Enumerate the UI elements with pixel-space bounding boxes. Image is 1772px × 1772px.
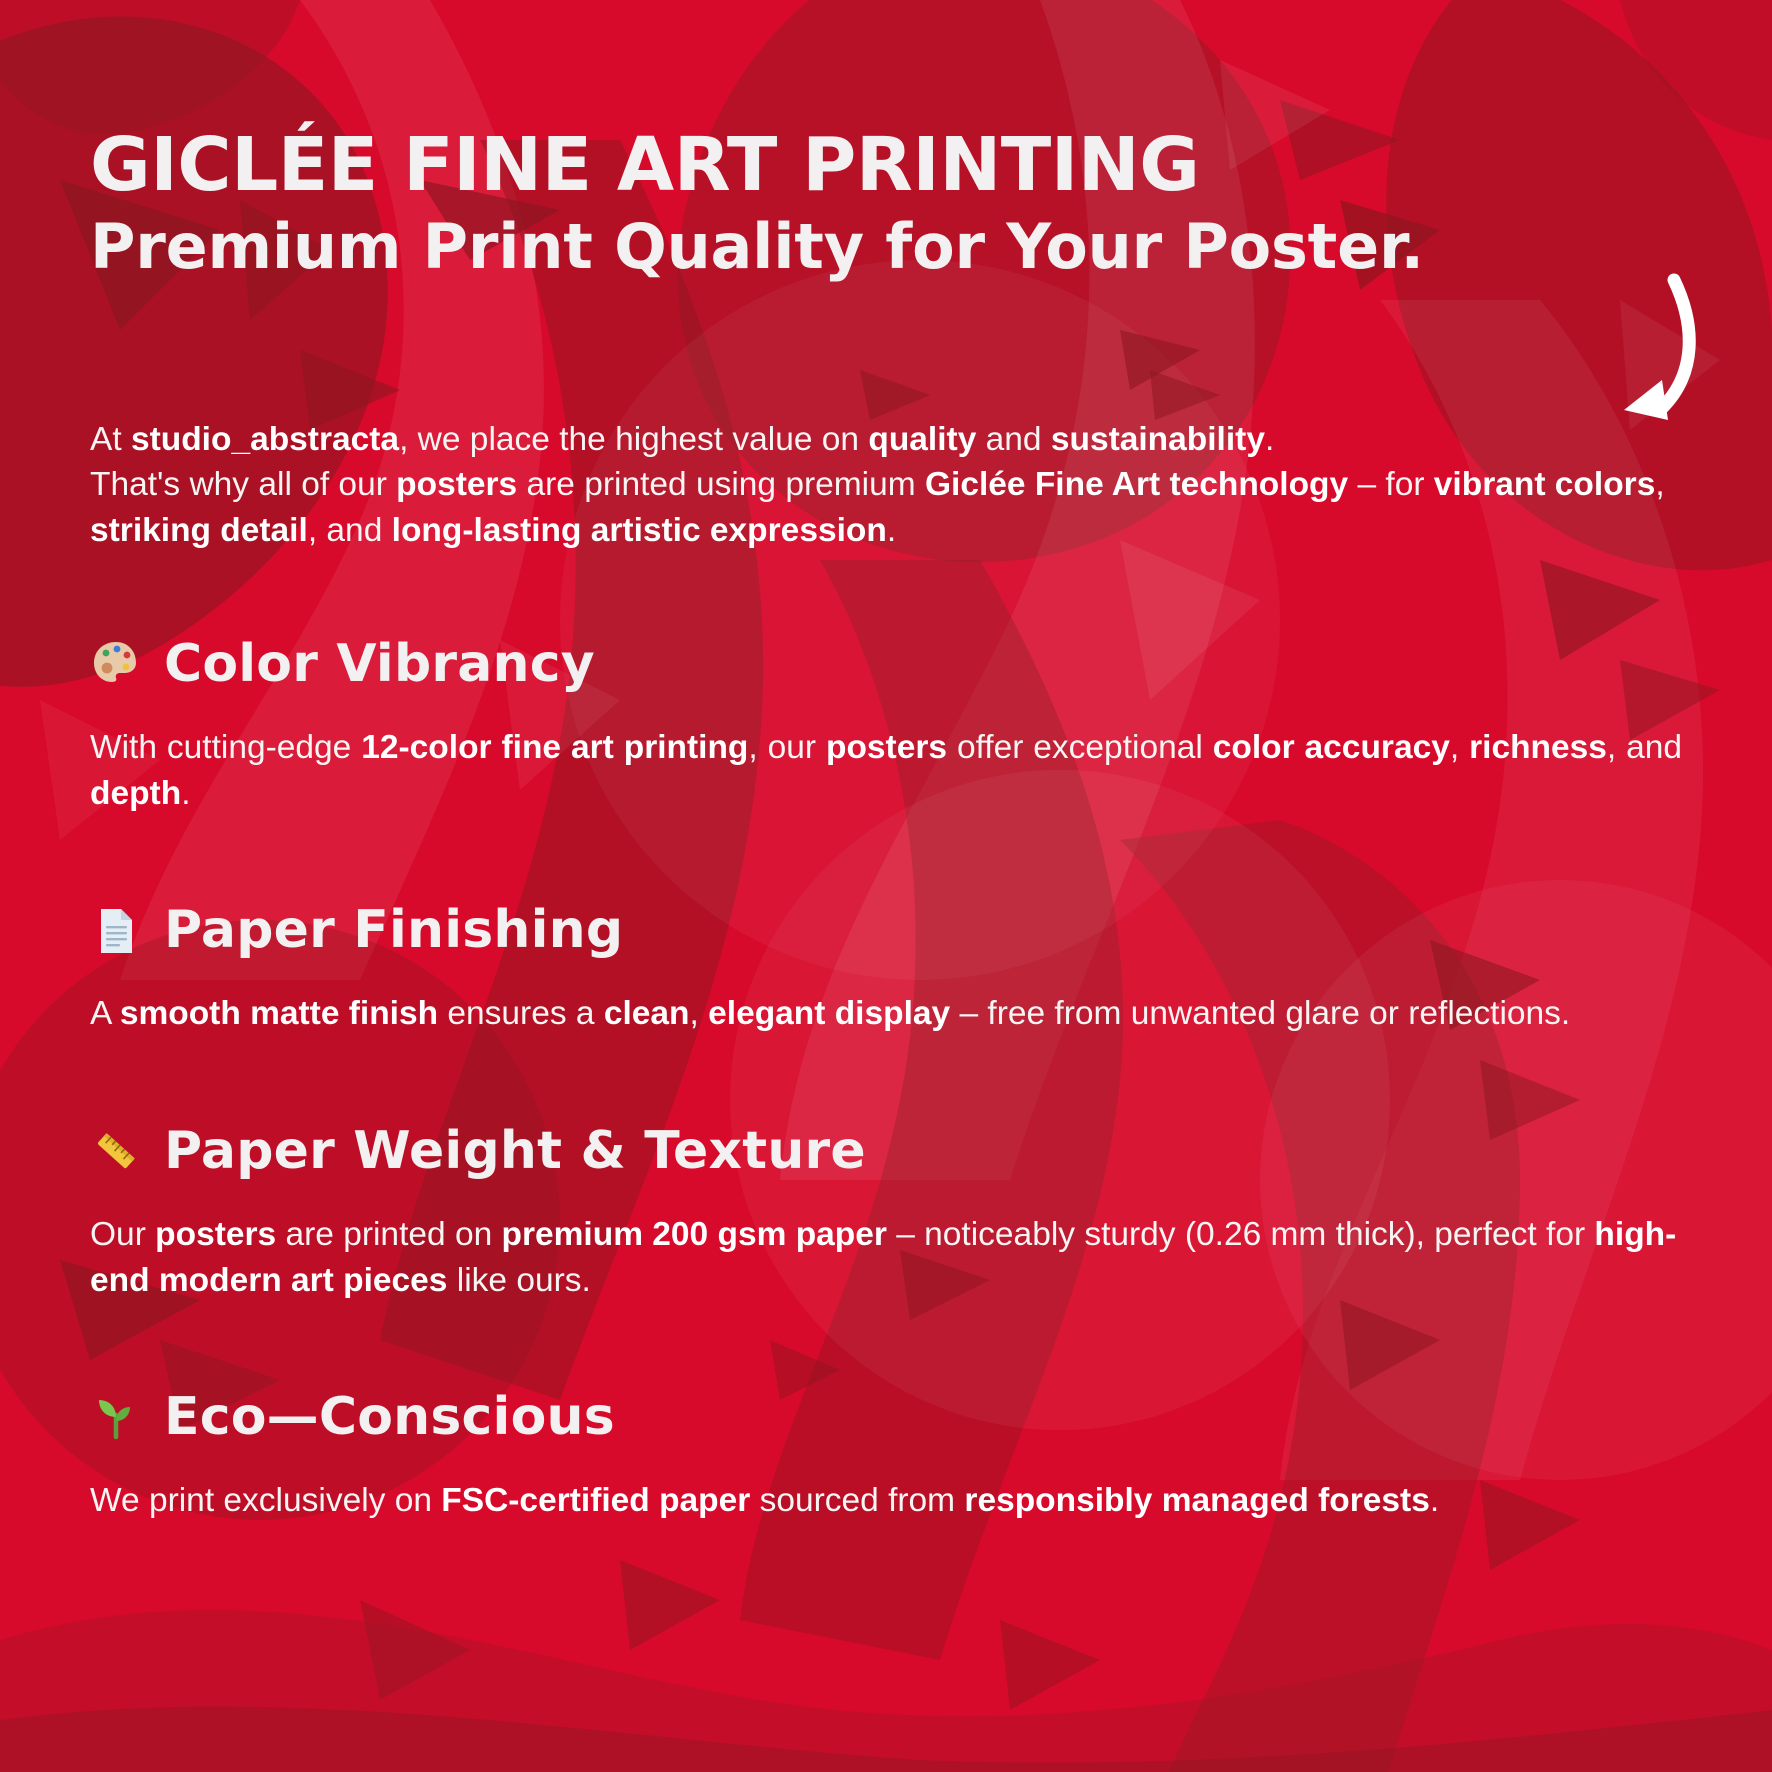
- keyword-sustainability: sustainability: [1051, 421, 1265, 458]
- keyword-vibrant-colors: vibrant colors: [1434, 466, 1656, 503]
- keyword-posters: posters: [396, 466, 517, 503]
- text-fragment-0: A: [90, 995, 120, 1032]
- text-fragment-8: , and: [1607, 729, 1682, 766]
- giclee-printing-poster: GICLÉE FINE ART PRINTING Premium Print Q…: [0, 0, 1772, 1772]
- feature-section-eco-conscious: Eco—ConsciousWe print exclusively on FSC…: [90, 1390, 1682, 1524]
- text-fragment-4: .: [1430, 1482, 1439, 1519]
- text-fragment-1: 12-color fine art printing: [361, 729, 748, 766]
- text-fragment-0: With cutting-edge: [90, 729, 361, 766]
- text-fragment-4: offer exceptional: [947, 729, 1213, 766]
- page-title: GICLÉE FINE ART PRINTING: [90, 128, 1682, 202]
- poster-content: GICLÉE FINE ART PRINTING Premium Print Q…: [0, 0, 1772, 1524]
- text-fragment-1: FSC-certified paper: [441, 1482, 750, 1519]
- text-fragment-6: ,: [1450, 729, 1469, 766]
- text-fragment-2: ensures a: [438, 995, 604, 1032]
- text-fragment-5: color accuracy: [1213, 729, 1450, 766]
- section-heading-paper-finishing: Paper Finishing: [90, 903, 1682, 958]
- feature-sections: Color VibrancyWith cutting-edge 12-color…: [90, 637, 1682, 1525]
- section-title-eco-conscious: Eco—Conscious: [164, 1390, 615, 1445]
- intro-text-7: – for: [1348, 466, 1434, 503]
- seedling-emoji: [90, 1391, 142, 1443]
- feature-section-paper-weight-texture: Paper Weight & TextureOur posters are pr…: [90, 1124, 1682, 1305]
- ruler-emoji: [90, 1125, 142, 1177]
- keyword-long-lasting: long-lasting artistic expression: [392, 512, 887, 549]
- keyword-quality: quality: [868, 421, 976, 458]
- intro-text-2: , we place the highest value on: [399, 421, 868, 458]
- text-fragment-2: are printed on: [276, 1216, 501, 1253]
- section-body-paper-finishing: A smooth matte finish ensures a clean, e…: [90, 991, 1682, 1037]
- section-title-color-vibrancy: Color Vibrancy: [164, 637, 595, 692]
- intro-text-6: are printed using premium: [517, 466, 925, 503]
- intro-text-5: That's why all of our: [90, 466, 396, 503]
- text-fragment-3: posters: [826, 729, 947, 766]
- text-fragment-1: smooth matte finish: [120, 995, 438, 1032]
- text-fragment-5: elegant display: [708, 995, 950, 1032]
- intro-text-4: .: [1265, 421, 1274, 458]
- text-fragment-6: – free from unwanted glare or reflection…: [950, 995, 1570, 1032]
- intro-text-3: and: [976, 421, 1051, 458]
- text-fragment-3: clean: [604, 995, 690, 1032]
- feature-section-paper-finishing: Paper FinishingA smooth matte finish ens…: [90, 903, 1682, 1037]
- text-fragment-0: Our: [90, 1216, 155, 1253]
- section-heading-color-vibrancy: Color Vibrancy: [90, 637, 1682, 692]
- text-fragment-6: like ours.: [447, 1262, 590, 1299]
- section-title-paper-finishing: Paper Finishing: [164, 903, 623, 958]
- intro-text-1: At: [90, 421, 131, 458]
- text-fragment-2: sourced from: [750, 1482, 964, 1519]
- palette-emoji: [90, 638, 142, 690]
- text-fragment-3: responsibly managed forests: [964, 1482, 1429, 1519]
- keyword-striking-detail: striking detail: [90, 512, 308, 549]
- section-title-paper-weight-texture: Paper Weight & Texture: [164, 1124, 866, 1179]
- feature-section-color-vibrancy: Color VibrancyWith cutting-edge 12-color…: [90, 637, 1682, 818]
- text-fragment-4: – noticeably sturdy (0.26 mm thick), per…: [887, 1216, 1595, 1253]
- text-fragment-2: , our: [748, 729, 826, 766]
- text-fragment-0: We print exclusively on: [90, 1482, 441, 1519]
- text-fragment-9: depth: [90, 775, 181, 812]
- document-page-emoji: [90, 905, 142, 957]
- brand-name: studio_abstracta: [131, 421, 399, 458]
- section-body-eco-conscious: We print exclusively on FSC-certified pa…: [90, 1478, 1682, 1524]
- intro-paragraph: At studio_abstracta, we place the highes…: [90, 417, 1682, 553]
- section-body-paper-weight-texture: Our posters are printed on premium 200 g…: [90, 1212, 1682, 1304]
- text-fragment-4: ,: [690, 995, 709, 1032]
- text-fragment-3: premium 200 gsm paper: [502, 1216, 887, 1253]
- text-fragment-10: .: [181, 775, 190, 812]
- section-heading-paper-weight-texture: Paper Weight & Texture: [90, 1124, 1682, 1179]
- text-fragment-1: posters: [155, 1216, 276, 1253]
- intro-text-10: .: [887, 512, 896, 549]
- section-heading-eco-conscious: Eco—Conscious: [90, 1390, 1682, 1445]
- hero-block: GICLÉE FINE ART PRINTING Premium Print Q…: [90, 0, 1682, 279]
- intro-text-8: ,: [1655, 466, 1664, 503]
- section-body-color-vibrancy: With cutting-edge 12-color fine art prin…: [90, 725, 1682, 817]
- keyword-giclee-technology: Giclée Fine Art technology: [925, 466, 1348, 503]
- text-fragment-7: richness: [1469, 729, 1607, 766]
- page-subtitle: Premium Print Quality for Your Poster.: [90, 214, 1682, 279]
- intro-text-9: , and: [308, 512, 392, 549]
